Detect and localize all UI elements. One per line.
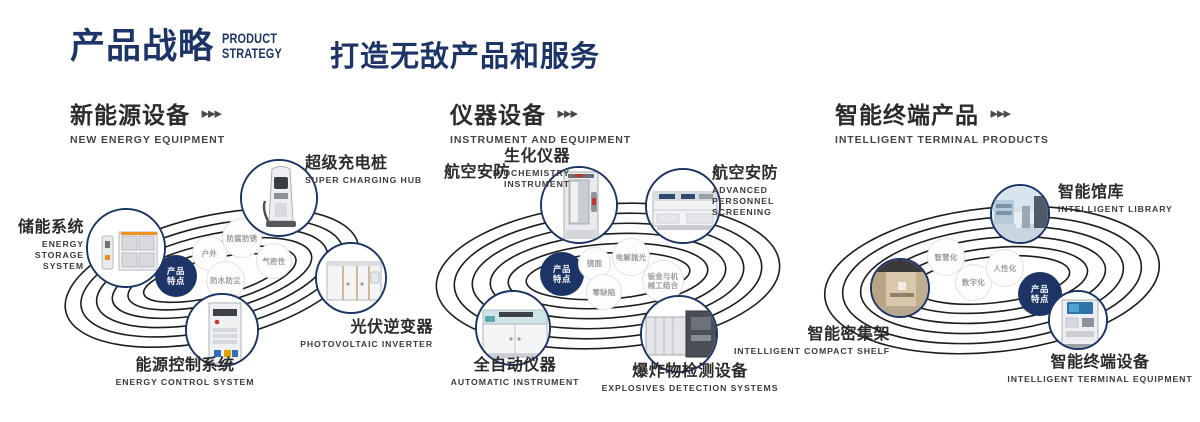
- library-room-icon: [992, 186, 1048, 242]
- section-header-intelligent-terminal: 智能终端产品 ▸▸▸ INTELLIGENT TERMINAL PRODUCTS: [835, 96, 1049, 146]
- section-title-en: INSTRUMENT AND EQUIPMENT: [450, 134, 631, 146]
- node-intelligent-terminal-equipment[interactable]: [1048, 290, 1108, 350]
- page-subtitle: 打造无敌产品和服务: [330, 33, 600, 75]
- chevron-right-triple-icon: ▸▸▸: [990, 104, 1010, 122]
- page-title-en-line1: PRODUCT: [222, 31, 284, 46]
- chevron-right-triple-icon: ▸▸▸: [557, 104, 577, 122]
- node-automatic-instrument[interactable]: [475, 290, 551, 366]
- core-label-line2: 特点: [167, 276, 185, 286]
- feature-bubble-airtight: 气密性: [256, 243, 292, 279]
- node-label-intelligent-terminal-equipment: 智能终端设备 INTELLIGENT TERMINAL EQUIPMENT: [1000, 353, 1200, 385]
- inverter-cabinet-icon: [317, 244, 385, 312]
- detector-unit-icon: [642, 297, 716, 371]
- node-label-en: EXPLOSIVES DETECTION SYSTEMS: [600, 383, 780, 394]
- core-label-line1: 产品: [167, 266, 185, 276]
- node-label-cn: 生化仪器: [440, 147, 570, 166]
- node-photovoltaic-inverter[interactable]: [315, 242, 387, 314]
- page-header: 产品战略 PRODUCT STRATEGY 打造无敌产品和服务: [0, 0, 1200, 90]
- node-intelligent-compact-shelf[interactable]: [870, 258, 930, 318]
- node-energy-storage-system[interactable]: [86, 208, 166, 288]
- section-title-cn: 智能终端产品: [835, 96, 979, 130]
- page-title-en-line2: STRATEGY: [222, 46, 284, 61]
- core-label-line1: 产品: [1031, 284, 1049, 294]
- section-title-cn: 仪器设备: [450, 96, 546, 130]
- node-label-cn: 爆炸物检测设备: [600, 362, 780, 381]
- node-label-cn: 智能终端设备: [1000, 353, 1200, 372]
- screening-machine-icon: [647, 170, 719, 242]
- core-bubble: 产品 特点: [540, 252, 584, 296]
- node-label-automatic-instrument: 全自动仪器 AUTOMATIC INSTRUMENT: [435, 356, 595, 388]
- node-label-en: INTELLIGENT COMPACT SHELF: [730, 346, 890, 357]
- compact-shelf-icon: [872, 260, 928, 316]
- control-cabinet-icon: [187, 295, 257, 365]
- node-label-en: INTELLIGENT TERMINAL EQUIPMENT: [1000, 374, 1200, 385]
- battery-cabinet-icon: [88, 210, 164, 286]
- node-label-cn: 储能系统: [0, 218, 84, 237]
- section-title-en: INTELLIGENT TERMINAL PRODUCTS: [835, 134, 1049, 146]
- node-label-en: BIOCHEMISTRY INSTRUMENT: [440, 168, 570, 190]
- node-label-energy-storage-system: 储能系统 ENERGY STORAGE SYSTEM: [0, 218, 84, 272]
- node-advanced-personnel-screening[interactable]: [645, 168, 721, 244]
- node-label-cn: 智能密集架: [730, 325, 890, 344]
- core-label-line2: 特点: [553, 274, 571, 284]
- cluster-intelligent-terminal-products: 智慧化 数字化 人性化 产品 特点: [800, 150, 1200, 410]
- chevron-right-triple-icon: ▸▸▸: [201, 104, 221, 122]
- auto-analyzer-icon: [477, 292, 549, 364]
- page-title-cn: 产品战略: [70, 26, 214, 68]
- kiosk-terminal-icon: [1050, 292, 1106, 348]
- node-label-en: INTELLIGENT LIBRARY: [1058, 204, 1188, 215]
- section-title-cn: 新能源设备: [70, 96, 190, 130]
- product-strategy-infographic: 产品战略 PRODUCT STRATEGY 打造无敌产品和服务 新能源设备 ▸▸…: [0, 0, 1200, 422]
- section-title-en: NEW ENERGY EQUIPMENT: [70, 134, 225, 146]
- section-header-instrument: 仪器设备 ▸▸▸ INSTRUMENT AND EQUIPMENT: [450, 96, 631, 146]
- node-label-intelligent-library: 智能馆库 INTELLIGENT LIBRARY: [1058, 183, 1188, 215]
- node-label-intelligent-compact-shelf: 智能密集架 INTELLIGENT COMPACT SHELF: [730, 325, 890, 357]
- node-label-en: ENERGY CONTROL SYSTEM: [65, 377, 305, 388]
- section-header-new-energy: 新能源设备 ▸▸▸ NEW ENERGY EQUIPMENT: [70, 96, 225, 146]
- core-label-line2: 特点: [1031, 294, 1049, 304]
- node-label-cn: 能源控制系统: [65, 356, 305, 375]
- node-label-en: AUTOMATIC INSTRUMENT: [435, 377, 595, 388]
- cluster-instrument-and-equipment: 产品 特点 镜面 电解抛光 零缺陷 钣金与机械工结合: [400, 150, 830, 410]
- node-intelligent-library[interactable]: [990, 184, 1050, 244]
- cluster-new-energy-equipment: 产品 特点 户外 防腐防锈 防水防尘 气密性: [0, 150, 430, 410]
- node-label-en: ENERGY STORAGE SYSTEM: [0, 239, 84, 272]
- page-title-en: PRODUCT STRATEGY: [222, 31, 284, 61]
- node-label-energy-control-system: 能源控制系统 ENERGY CONTROL SYSTEM: [65, 356, 305, 388]
- node-label-explosives-detection: 爆炸物检测设备 EXPLOSIVES DETECTION SYSTEMS: [600, 362, 780, 394]
- core-label-line1: 产品: [553, 264, 571, 274]
- node-label-biochemistry-instrument: 生化仪器 BIOCHEMISTRY INSTRUMENT: [440, 147, 570, 190]
- node-label-cn: 全自动仪器: [435, 356, 595, 375]
- feature-bubble-humanized: 人性化: [986, 249, 1024, 287]
- node-label-cn: 智能馆库: [1058, 183, 1188, 202]
- feature-bubble-zero-defect: 零缺陷: [586, 274, 622, 310]
